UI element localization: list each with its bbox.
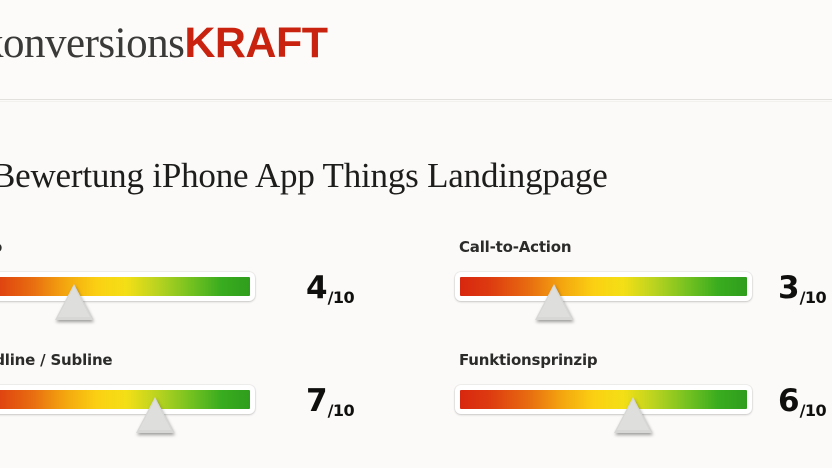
rating-scale-frame bbox=[455, 272, 752, 301]
rating-score: 3/10 bbox=[778, 270, 825, 306]
rating-label: Funktionsprinzip bbox=[459, 351, 597, 369]
brand-logo[interactable]: konversionsKRAFT bbox=[0, 22, 328, 65]
rating-score-value: 4 bbox=[306, 270, 327, 306]
rating-marker-fill bbox=[538, 287, 570, 317]
rating-gradient-track bbox=[460, 390, 747, 409]
rating-marker-fill bbox=[58, 287, 90, 317]
page-header: konversionsKRAFT bbox=[0, 0, 832, 100]
rating-scale-frame bbox=[0, 272, 255, 301]
rating-label: Call-to-Action bbox=[459, 238, 571, 256]
slide-root: konversionsKRAFT Bewertung iPhone App Th… bbox=[0, 0, 832, 468]
rating-row: Call-to-Action 3/10 bbox=[455, 232, 832, 342]
page-title: Bewertung iPhone App Things Landingpage bbox=[0, 156, 608, 196]
rating-score-value: 7 bbox=[306, 383, 327, 419]
rating-gradient-track bbox=[460, 277, 747, 296]
rating-score-value: 3 bbox=[778, 270, 799, 306]
header-divider-highlight bbox=[0, 101, 832, 102]
ratings-grid: Logo 4/10 Call-to-Action 3/ bbox=[0, 232, 832, 468]
rating-row: Headline / Subline 7/10 bbox=[0, 345, 378, 455]
rating-score-denominator: /10 bbox=[328, 288, 355, 307]
rating-scale-bar[interactable] bbox=[0, 385, 255, 414]
rating-label: Headline / Subline bbox=[0, 351, 112, 369]
rating-scale-frame bbox=[455, 385, 752, 414]
brand-logo-accent: KRAFT bbox=[184, 19, 327, 67]
rating-score-denominator: /10 bbox=[800, 288, 827, 307]
rating-gradient-track bbox=[0, 390, 250, 409]
header-divider bbox=[0, 99, 832, 100]
rating-gradient-track bbox=[0, 277, 250, 296]
rating-score: 7/10 bbox=[306, 383, 353, 419]
rating-row: Funktionsprinzip 6/10 bbox=[455, 345, 832, 455]
rating-scale-bar[interactable] bbox=[0, 272, 255, 301]
rating-score-denominator: /10 bbox=[328, 401, 355, 420]
rating-label: Logo bbox=[0, 238, 2, 256]
rating-scale-bar[interactable] bbox=[455, 385, 752, 414]
rating-score: 6/10 bbox=[778, 383, 825, 419]
rating-marker-fill bbox=[617, 400, 649, 430]
rating-row: Logo 4/10 bbox=[0, 232, 378, 342]
brand-logo-primary: konversions bbox=[0, 20, 184, 67]
rating-scale-frame bbox=[0, 385, 255, 414]
rating-scale-bar[interactable] bbox=[455, 272, 752, 301]
rating-score-denominator: /10 bbox=[800, 401, 827, 420]
rating-score-value: 6 bbox=[778, 383, 799, 419]
rating-score: 4/10 bbox=[306, 270, 353, 306]
rating-marker-fill bbox=[139, 400, 171, 430]
